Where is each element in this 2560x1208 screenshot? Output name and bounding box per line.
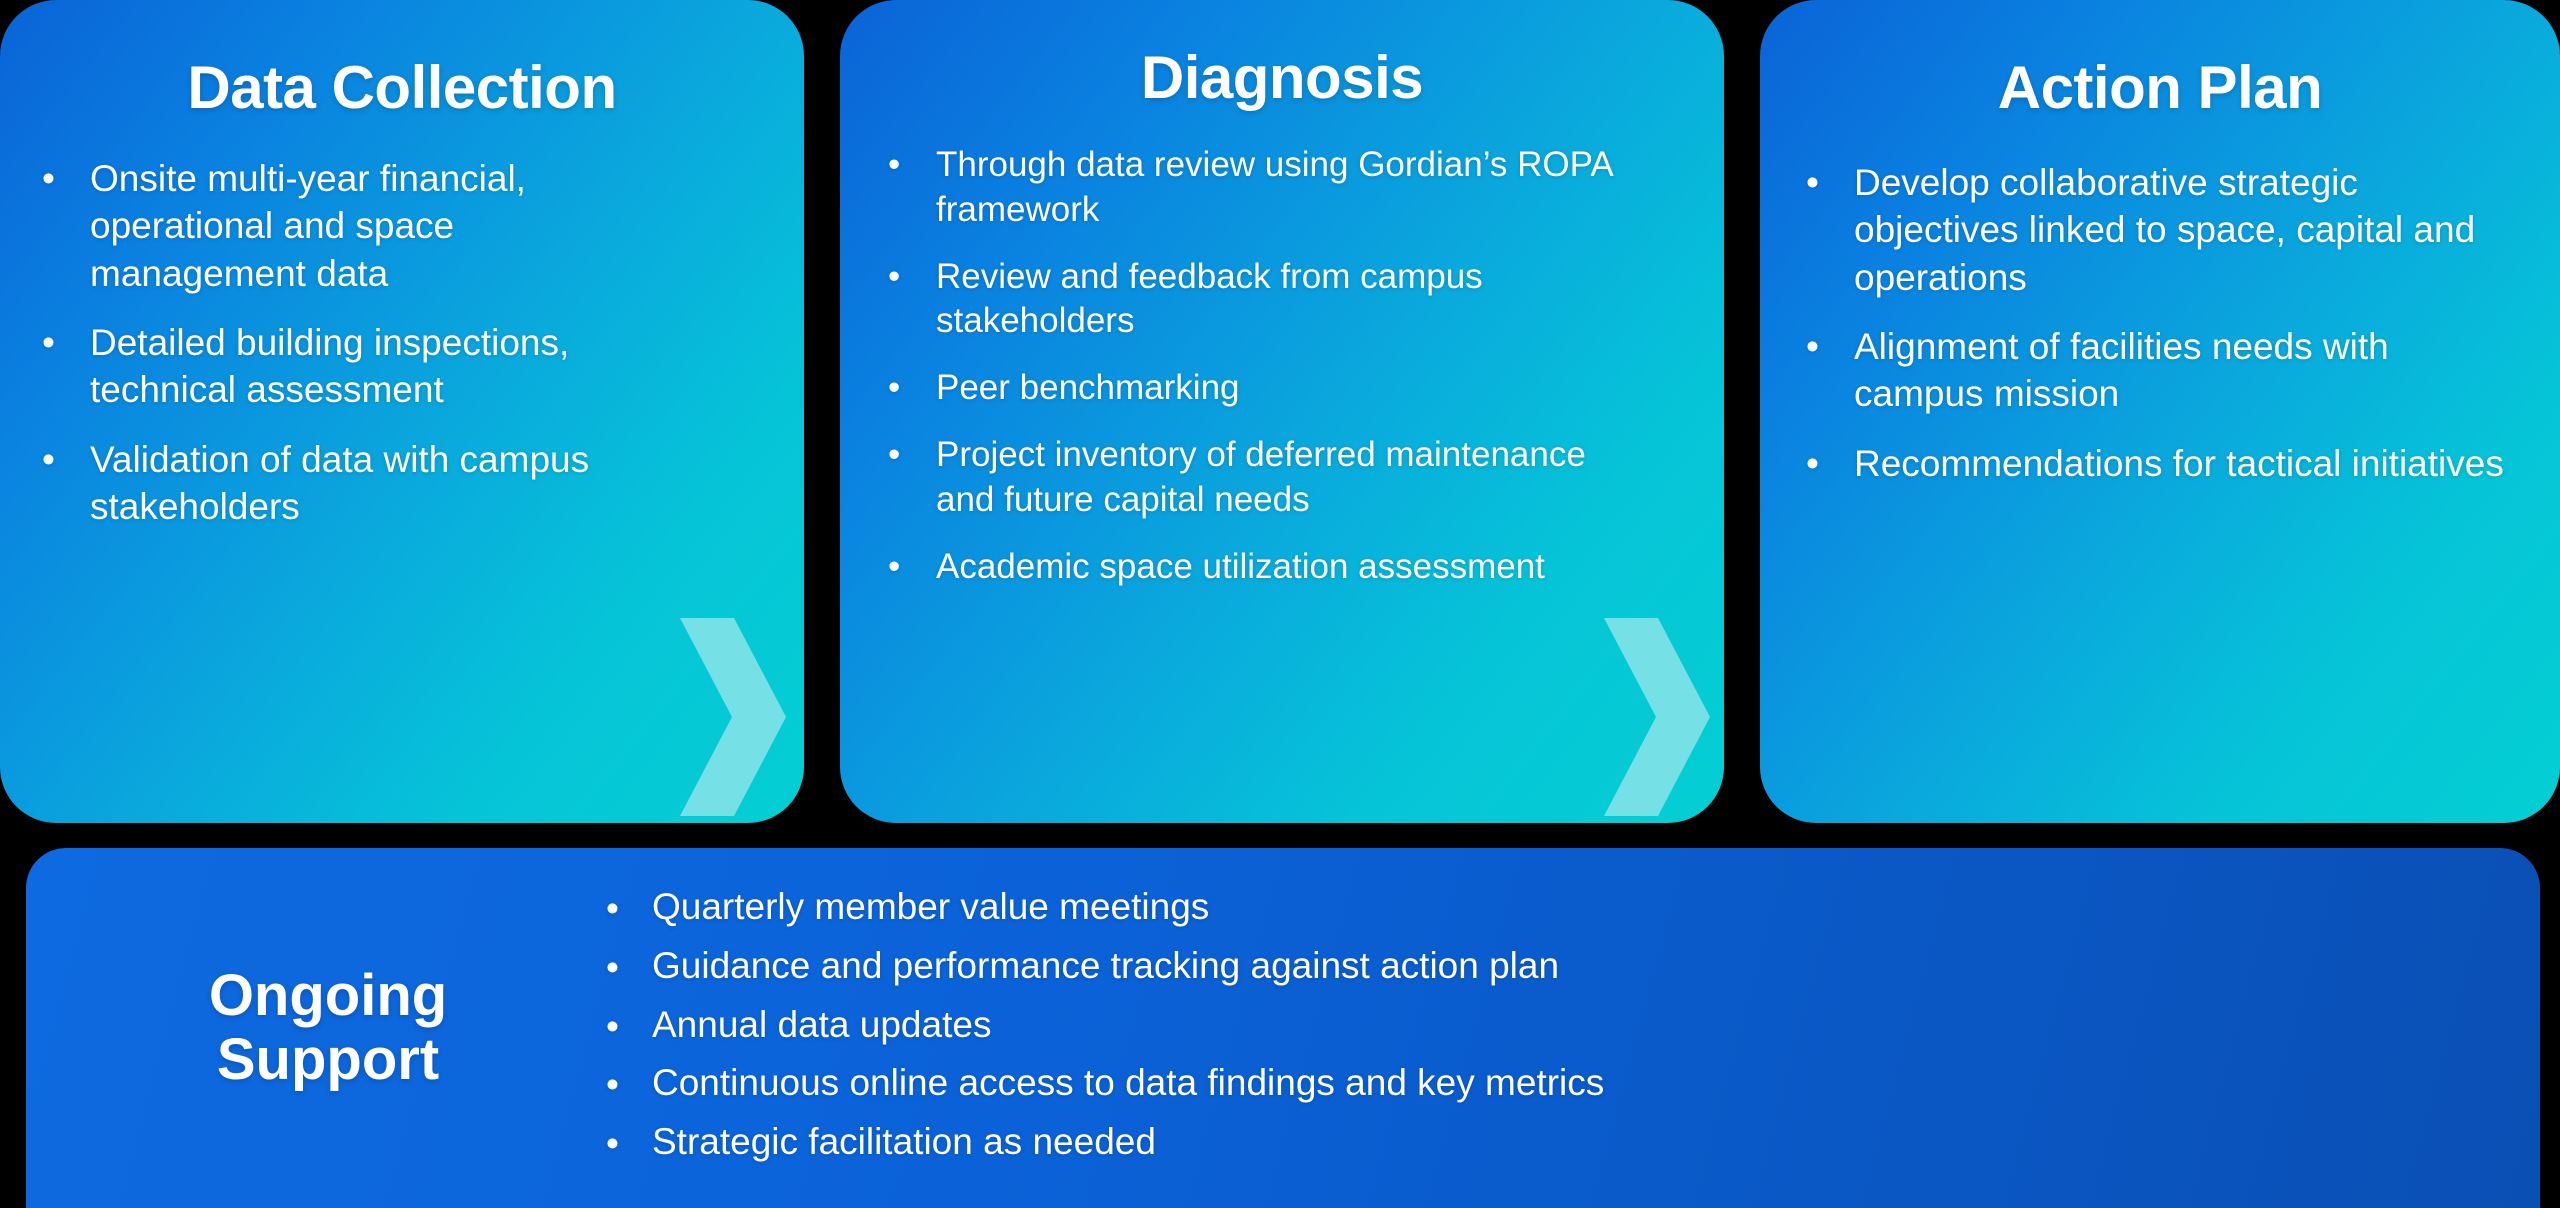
bullet-marker-icon: • bbox=[606, 1003, 646, 1050]
process-diagram: Data Collection • Onsite multi-year fina… bbox=[0, 0, 2560, 1208]
list-item: • Peer benchmarking bbox=[888, 366, 1648, 411]
list-item: • Recommendations for tactical initiativ… bbox=[1806, 440, 2506, 487]
bullet-text: Strategic facilitation as needed bbox=[652, 1120, 2500, 1164]
list-item: • Detailed building inspections, technic… bbox=[42, 319, 672, 414]
list-item: • Quarterly member value meetings bbox=[606, 885, 2500, 929]
bullet-text: Detailed building inspections, technical… bbox=[90, 319, 672, 414]
bullet-marker-icon: • bbox=[888, 366, 928, 411]
stage-title-data-collection: Data Collection bbox=[0, 0, 804, 119]
stage-card-data-collection[interactable]: Data Collection • Onsite multi-year fina… bbox=[0, 0, 804, 823]
list-item: • Develop collaborative strategic object… bbox=[1806, 159, 2506, 301]
bullet-marker-icon: • bbox=[1806, 323, 1846, 370]
list-item: • Guidance and performance tracking agai… bbox=[606, 944, 2500, 988]
bullet-marker-icon: • bbox=[606, 1120, 646, 1167]
list-item: • Onsite multi-year financial, operation… bbox=[42, 155, 672, 297]
list-item: • Review and feedback from campus stakeh… bbox=[888, 255, 1648, 345]
stage-title-diagnosis: Diagnosis bbox=[840, 0, 1724, 109]
ongoing-support-bar[interactable]: Ongoing Support • Quarterly member value… bbox=[26, 848, 2540, 1208]
bullet-text: Guidance and performance tracking agains… bbox=[652, 944, 2500, 988]
bar-content: Ongoing Support • Quarterly member value… bbox=[26, 848, 2540, 1208]
bullet-text: Alignment of facilities needs with campu… bbox=[1854, 323, 2506, 418]
list-item: • Annual data updates bbox=[606, 1003, 2500, 1047]
stage-bullet-list-data-collection: • Onsite multi-year financial, operation… bbox=[42, 155, 672, 531]
ongoing-support-title: Ongoing Support bbox=[26, 964, 606, 1092]
bullet-text: Onsite multi-year financial, operational… bbox=[90, 155, 672, 297]
bullet-text: Quarterly member value meetings bbox=[652, 885, 2500, 929]
card-content: Data Collection • Onsite multi-year fina… bbox=[0, 0, 804, 823]
bullet-marker-icon: • bbox=[888, 255, 928, 300]
bullet-marker-icon: • bbox=[42, 319, 82, 366]
ongoing-support-title-line-1: Ongoing bbox=[50, 964, 606, 1028]
list-item: • Academic space utilization assessment bbox=[888, 545, 1648, 590]
list-item: • Through data review using Gordian’s RO… bbox=[888, 143, 1648, 233]
bullet-text: Peer benchmarking bbox=[936, 366, 1648, 411]
bullet-marker-icon: • bbox=[888, 545, 928, 590]
stage-bullet-list-action-plan: • Develop collaborative strategic object… bbox=[1806, 159, 2506, 487]
bullet-text: Develop collaborative strategic objectiv… bbox=[1854, 159, 2506, 301]
list-item: • Validation of data with campus stakeho… bbox=[42, 436, 672, 531]
bullet-marker-icon: • bbox=[42, 155, 82, 202]
bullet-text: Project inventory of deferred maintenanc… bbox=[936, 433, 1648, 523]
bullet-marker-icon: • bbox=[606, 1061, 646, 1108]
bullet-marker-icon: • bbox=[888, 143, 928, 188]
list-item: • Continuous online access to data findi… bbox=[606, 1061, 2500, 1105]
ongoing-support-title-line-2: Support bbox=[50, 1028, 606, 1092]
stage-bullet-list-diagnosis: • Through data review using Gordian’s RO… bbox=[888, 143, 1648, 589]
bullet-marker-icon: • bbox=[42, 436, 82, 483]
bullet-text: Annual data updates bbox=[652, 1003, 2500, 1047]
bullet-marker-icon: • bbox=[1806, 159, 1846, 206]
stage-card-diagnosis[interactable]: Diagnosis • Through data review using Go… bbox=[840, 0, 1724, 823]
list-item: • Strategic facilitation as needed bbox=[606, 1120, 2500, 1164]
bullet-text: Through data review using Gordian’s ROPA… bbox=[936, 143, 1648, 233]
bullet-marker-icon: • bbox=[606, 885, 646, 932]
bullet-marker-icon: • bbox=[606, 944, 646, 991]
bullet-text: Review and feedback from campus stakehol… bbox=[936, 255, 1648, 345]
card-content: Action Plan • Develop collaborative stra… bbox=[1760, 0, 2560, 823]
card-content: Diagnosis • Through data review using Go… bbox=[840, 0, 1724, 823]
ongoing-support-bullet-list: • Quarterly member value meetings • Guid… bbox=[606, 877, 2500, 1178]
stage-card-action-plan[interactable]: Action Plan • Develop collaborative stra… bbox=[1760, 0, 2560, 823]
bullet-text: Academic space utilization assessment bbox=[936, 545, 1648, 590]
bullet-text: Continuous online access to data finding… bbox=[652, 1061, 2500, 1105]
bullet-text: Recommendations for tactical initiatives bbox=[1854, 440, 2506, 487]
stage-title-action-plan: Action Plan bbox=[1760, 0, 2560, 119]
list-item: • Alignment of facilities needs with cam… bbox=[1806, 323, 2506, 418]
bullet-text: Validation of data with campus stakehold… bbox=[90, 436, 672, 531]
bullet-marker-icon: • bbox=[1806, 440, 1846, 487]
list-item: • Project inventory of deferred maintena… bbox=[888, 433, 1648, 523]
bullet-marker-icon: • bbox=[888, 433, 928, 478]
